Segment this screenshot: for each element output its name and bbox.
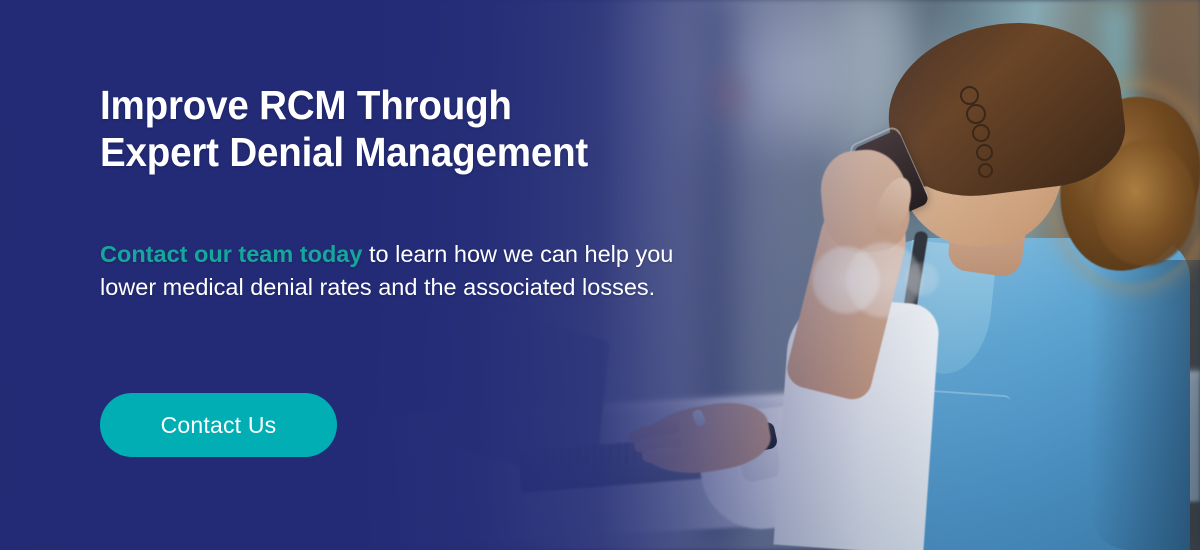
banner-content: Improve RCM Through Expert Denial Manage… [100, 0, 740, 550]
body-copy-lead: Contact our team today [100, 241, 362, 267]
contact-us-button[interactable]: Contact Us [100, 393, 337, 457]
banner-headline: Improve RCM Through Expert Denial Manage… [100, 82, 588, 176]
cta-banner: Improve RCM Through Expert Denial Manage… [0, 0, 1200, 550]
banner-body-copy: Contact our team today to learn how we c… [100, 238, 680, 303]
